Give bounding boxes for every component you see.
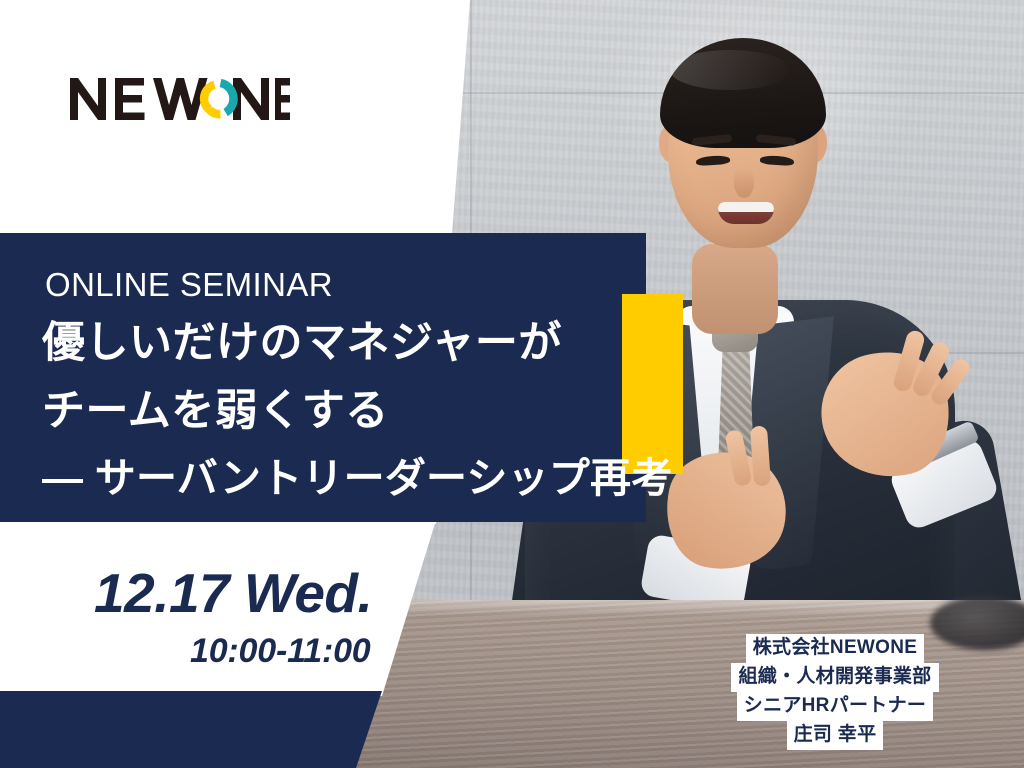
nose (734, 168, 754, 198)
seminar-kicker: ONLINE SEMINAR (45, 268, 333, 301)
speaker-name: 庄司 幸平 (787, 721, 884, 750)
seminar-banner-canvas: ONLINE SEMINAR 優しいだけのマネジャーが チームを弱くする ― サ… (0, 0, 1024, 768)
seminar-date: 12.17 Wed. (94, 566, 372, 621)
seminar-title-line-1: 優しいだけのマネジャーが (42, 320, 562, 367)
teeth (718, 202, 774, 212)
neck (692, 244, 778, 334)
speaker-role: シニアHRパートナー (737, 692, 933, 721)
newone-logo-mark (70, 76, 290, 122)
newone-logo (70, 76, 290, 122)
seminar-title-line-3: ― サーバントリーダーシップ再考 (42, 456, 672, 501)
seminar-title-line-2: チームを弱くする (42, 388, 389, 435)
speaker-company: 株式会社NEWONE (746, 634, 925, 663)
speaker-credit: 株式会社NEWONE 組織・人材開発事業部 シニアHRパートナー 庄司 幸平 (700, 634, 970, 750)
yellow-accent-bar (622, 294, 683, 474)
seminar-time: 10:00-11:00 (190, 634, 371, 668)
mouth (718, 202, 774, 224)
hair (660, 38, 826, 148)
speaker-department: 組織・人材開発事業部 (731, 663, 938, 692)
